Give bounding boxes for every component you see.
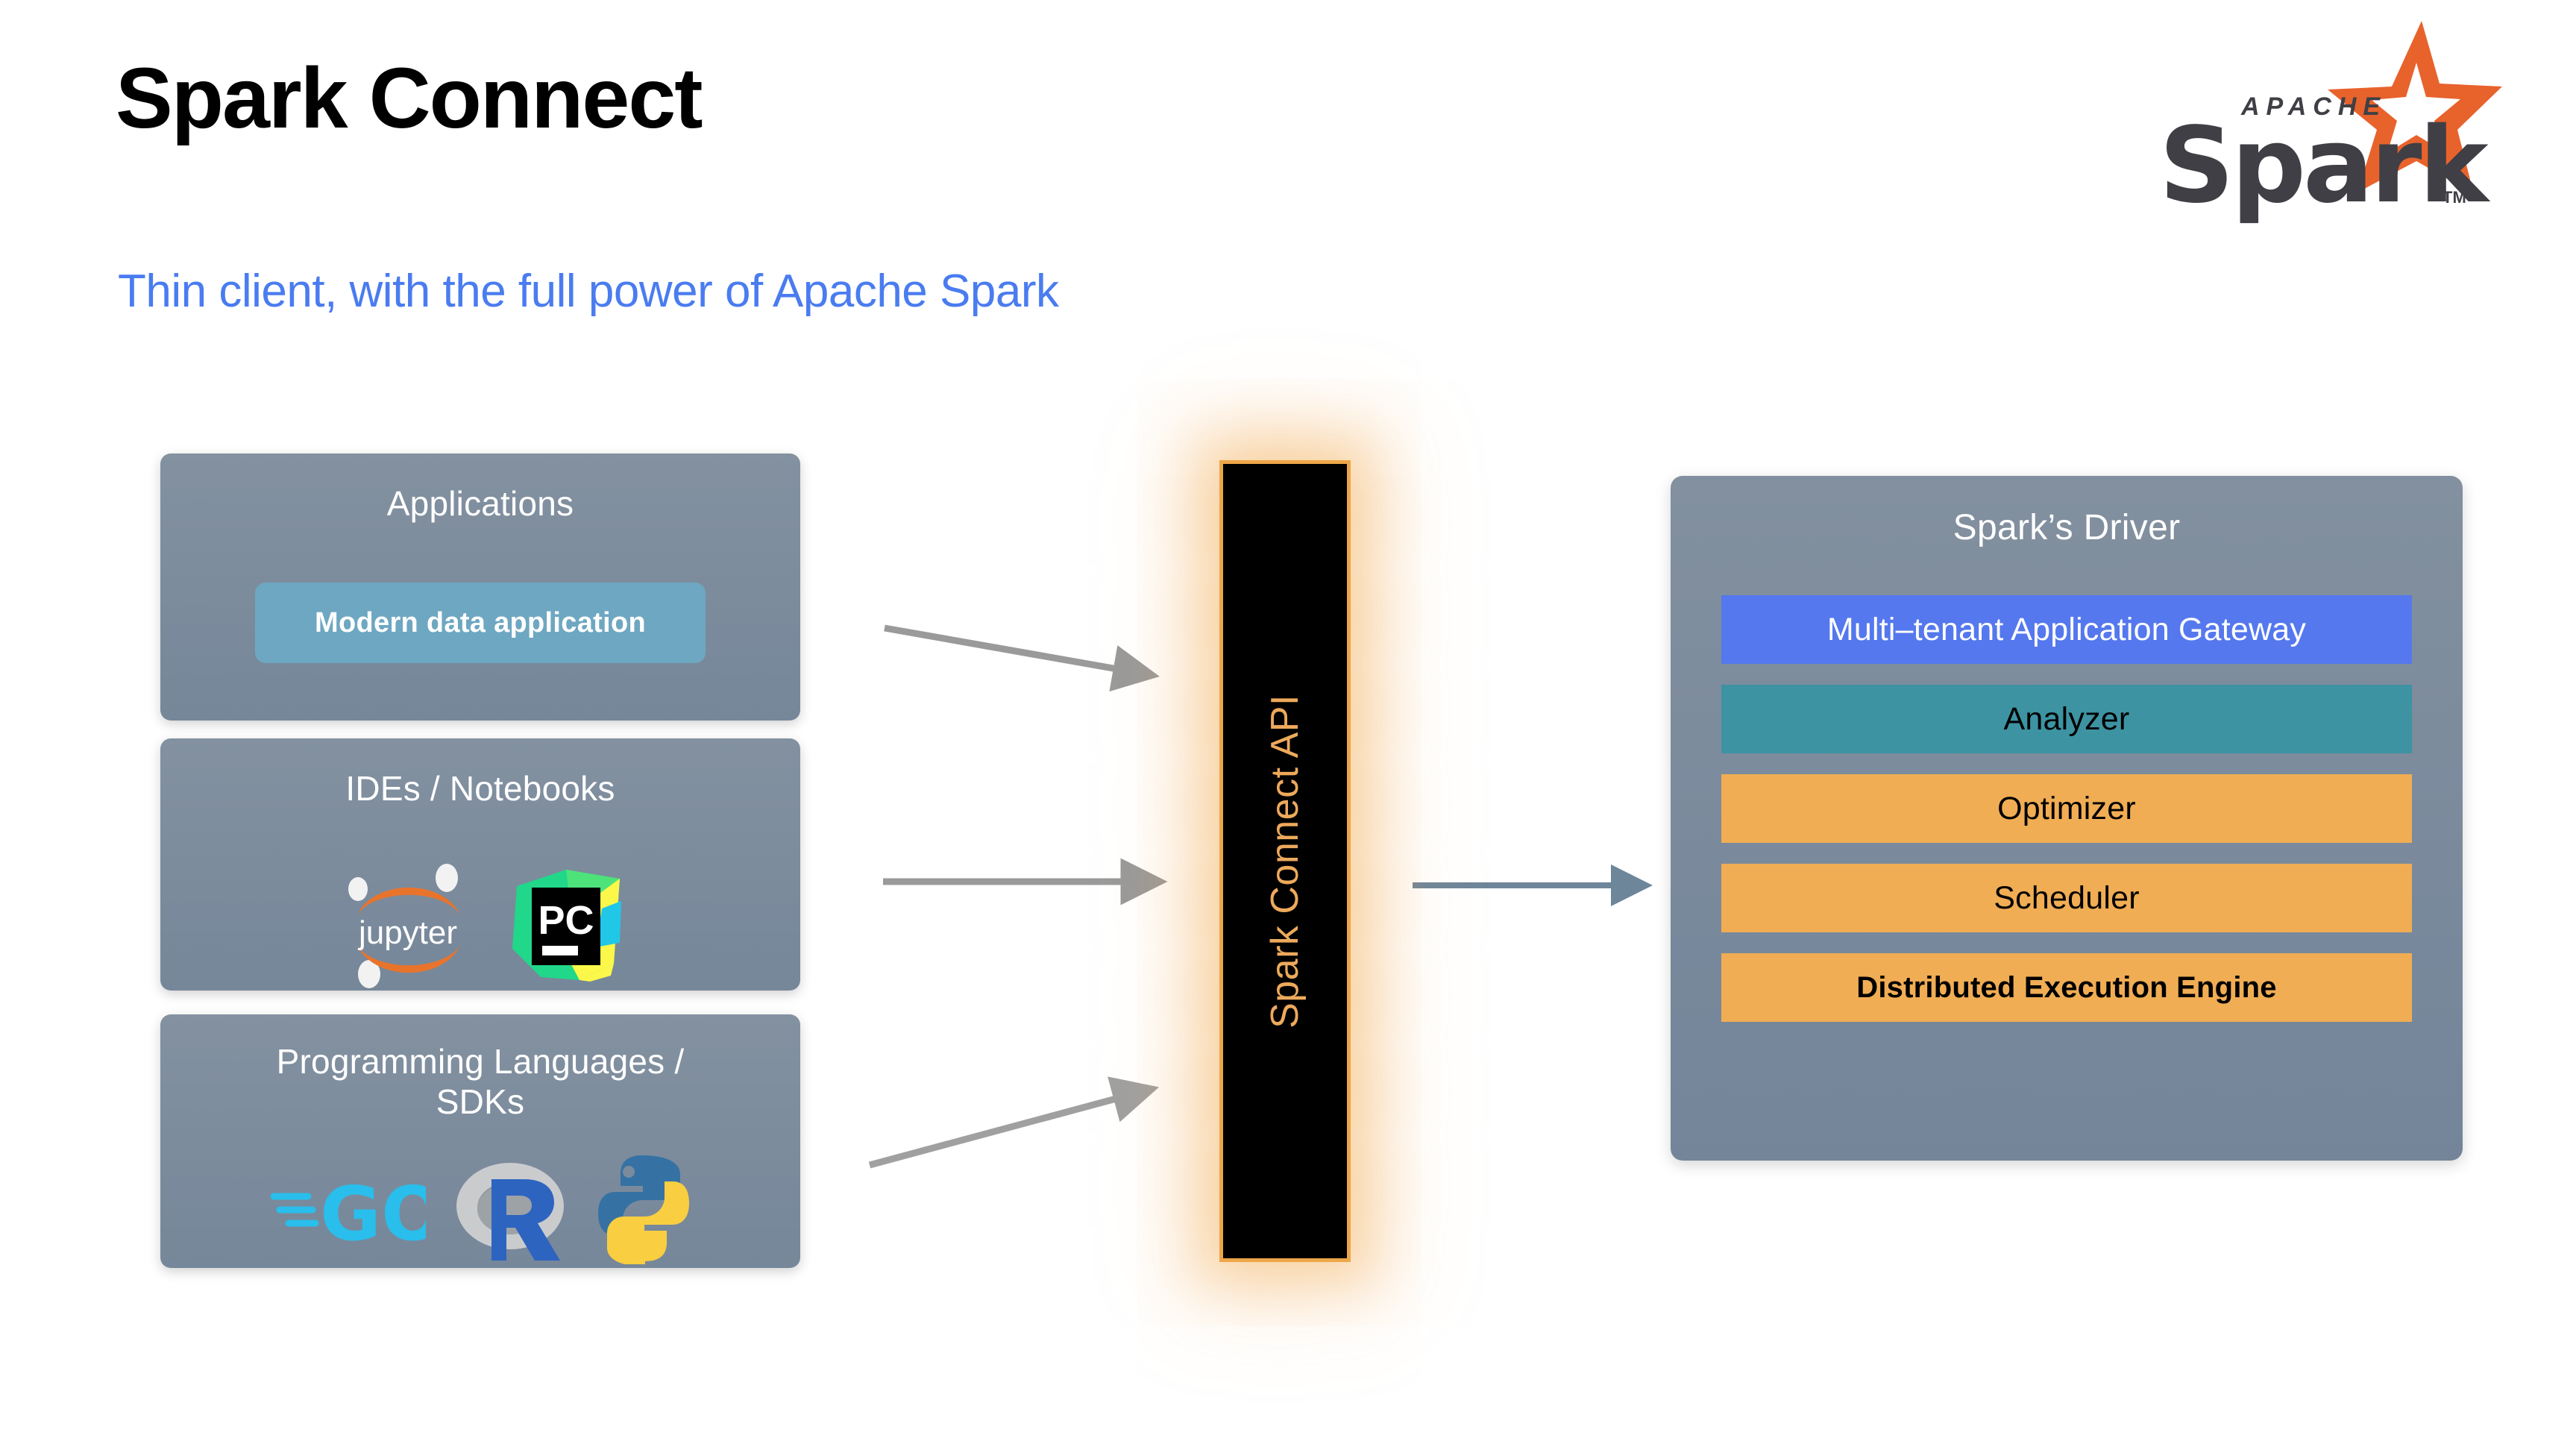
go-logo: GO xyxy=(269,1164,426,1257)
card-applications[interactable]: Applications Modern data application xyxy=(160,453,800,721)
apache-spark-logo: APACHE Spark TM xyxy=(2129,15,2502,224)
pycharm-pc-text: PC xyxy=(538,898,594,943)
spark-driver-title: Spark’s Driver xyxy=(1671,507,2463,548)
go-wordmark: GO xyxy=(320,1170,426,1253)
arrow-api-to-driver xyxy=(1410,861,1656,921)
driver-row-scheduler[interactable]: Scheduler xyxy=(1721,864,2412,932)
spark-wordmark: Spark xyxy=(2159,105,2491,224)
card-programming-languages[interactable]: Programming Languages / SDKs GO xyxy=(160,1014,800,1268)
arrow-ides-to-api xyxy=(880,858,1178,917)
driver-row-gateway-label: Multi–tenant Application Gateway xyxy=(1827,612,2306,648)
spark-driver-panel[interactable]: Spark’s Driver Multi–tenant Application … xyxy=(1671,476,2463,1161)
card-languages-title: Programming Languages / SDKs xyxy=(160,1041,800,1123)
driver-row-optimizer[interactable]: Optimizer xyxy=(1721,774,2412,843)
arrow-languages-to-api xyxy=(865,1059,1178,1178)
card-languages-title-line2: SDKs xyxy=(436,1082,524,1121)
jupyter-wordmark: jupyter xyxy=(357,914,457,951)
driver-row-analyzer-label: Analyzer xyxy=(2004,701,2130,738)
driver-row-execution-engine-label: Distributed Execution Engine xyxy=(1856,971,2276,1005)
card-applications-title: Applications xyxy=(160,483,800,524)
arrow-applications-to-api xyxy=(880,612,1178,709)
python-logo xyxy=(595,1152,692,1268)
trademark-mark: TM xyxy=(2443,188,2466,207)
card-ides-title: IDEs / Notebooks xyxy=(160,768,800,809)
modern-data-application-chip[interactable]: Modern data application xyxy=(255,583,706,663)
driver-row-gateway[interactable]: Multi–tenant Application Gateway xyxy=(1721,595,2412,664)
slide-canvas: Spark Connect Thin client, with the full… xyxy=(0,0,2576,1447)
spark-connect-api-bar[interactable]: Spark Connect API xyxy=(1219,460,1351,1262)
driver-row-scheduler-label: Scheduler xyxy=(1994,880,2139,917)
r-logo xyxy=(453,1152,568,1268)
driver-component-list: Multi–tenant Application Gateway Analyze… xyxy=(1721,595,2412,1022)
pycharm-logo: PC xyxy=(508,865,627,988)
card-languages-title-line1: Programming Languages / xyxy=(277,1042,685,1081)
spark-connect-api-label: Spark Connect API xyxy=(1263,694,1307,1029)
page-subtitle: Thin client, with the full power of Apac… xyxy=(118,265,1058,318)
language-logo-row: GO xyxy=(160,1152,800,1268)
ide-logo-row: jupyter PC xyxy=(160,861,800,992)
card-ides-notebooks[interactable]: IDEs / Notebooks jupyter xyxy=(160,738,800,991)
page-title: Spark Connect xyxy=(116,54,702,144)
driver-row-execution-engine[interactable]: Distributed Execution Engine xyxy=(1721,953,2412,1022)
driver-row-optimizer-label: Optimizer xyxy=(1997,791,2136,827)
driver-row-analyzer[interactable]: Analyzer xyxy=(1721,685,2412,753)
jupyter-logo: jupyter xyxy=(333,861,483,992)
